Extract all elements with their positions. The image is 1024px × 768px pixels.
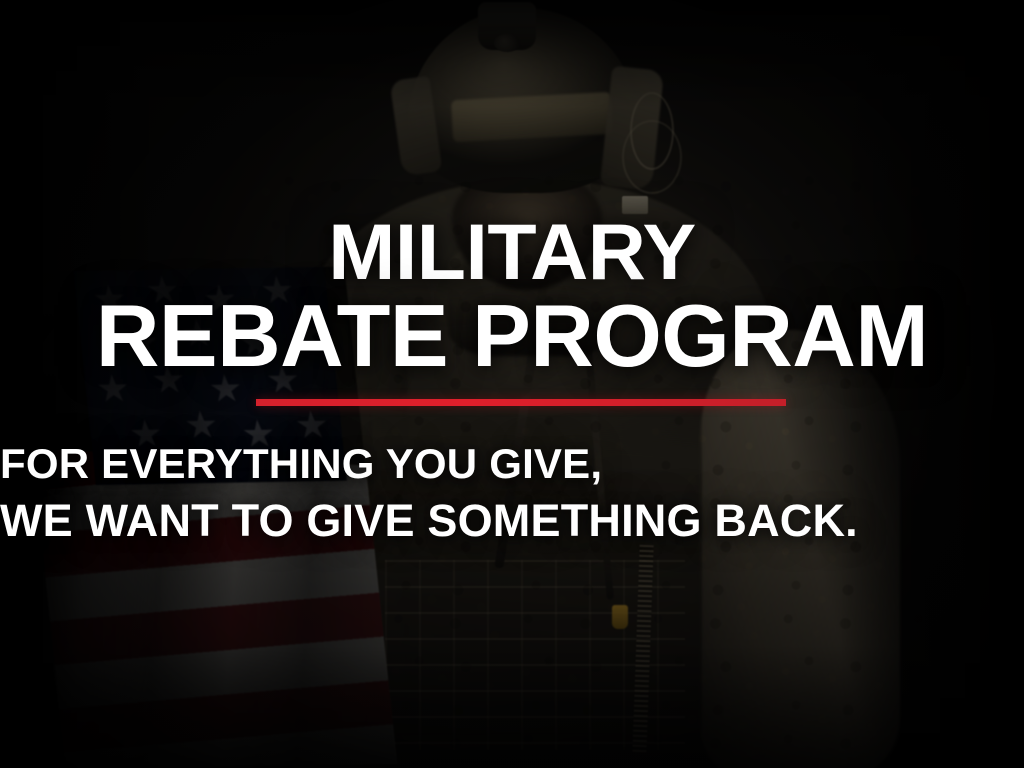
nvg-mount-knob — [494, 34, 520, 52]
page-title-line-2: REBATE PROGRAM — [0, 294, 1024, 378]
accent-divider-rule — [256, 399, 786, 406]
tagline-line-1: FOR EVERYTHING YOU GIVE, — [0, 443, 1024, 485]
military-rebate-program-poster: MILITARY REBATE PROGRAM FOR EVERYTHING Y… — [0, 0, 1024, 768]
helmet-velcro-band — [451, 92, 613, 142]
page-title-line-1: MILITARY — [0, 214, 1024, 290]
tagline-line-2: WE WANT TO GIVE SOMETHING BACK. — [0, 498, 1024, 543]
